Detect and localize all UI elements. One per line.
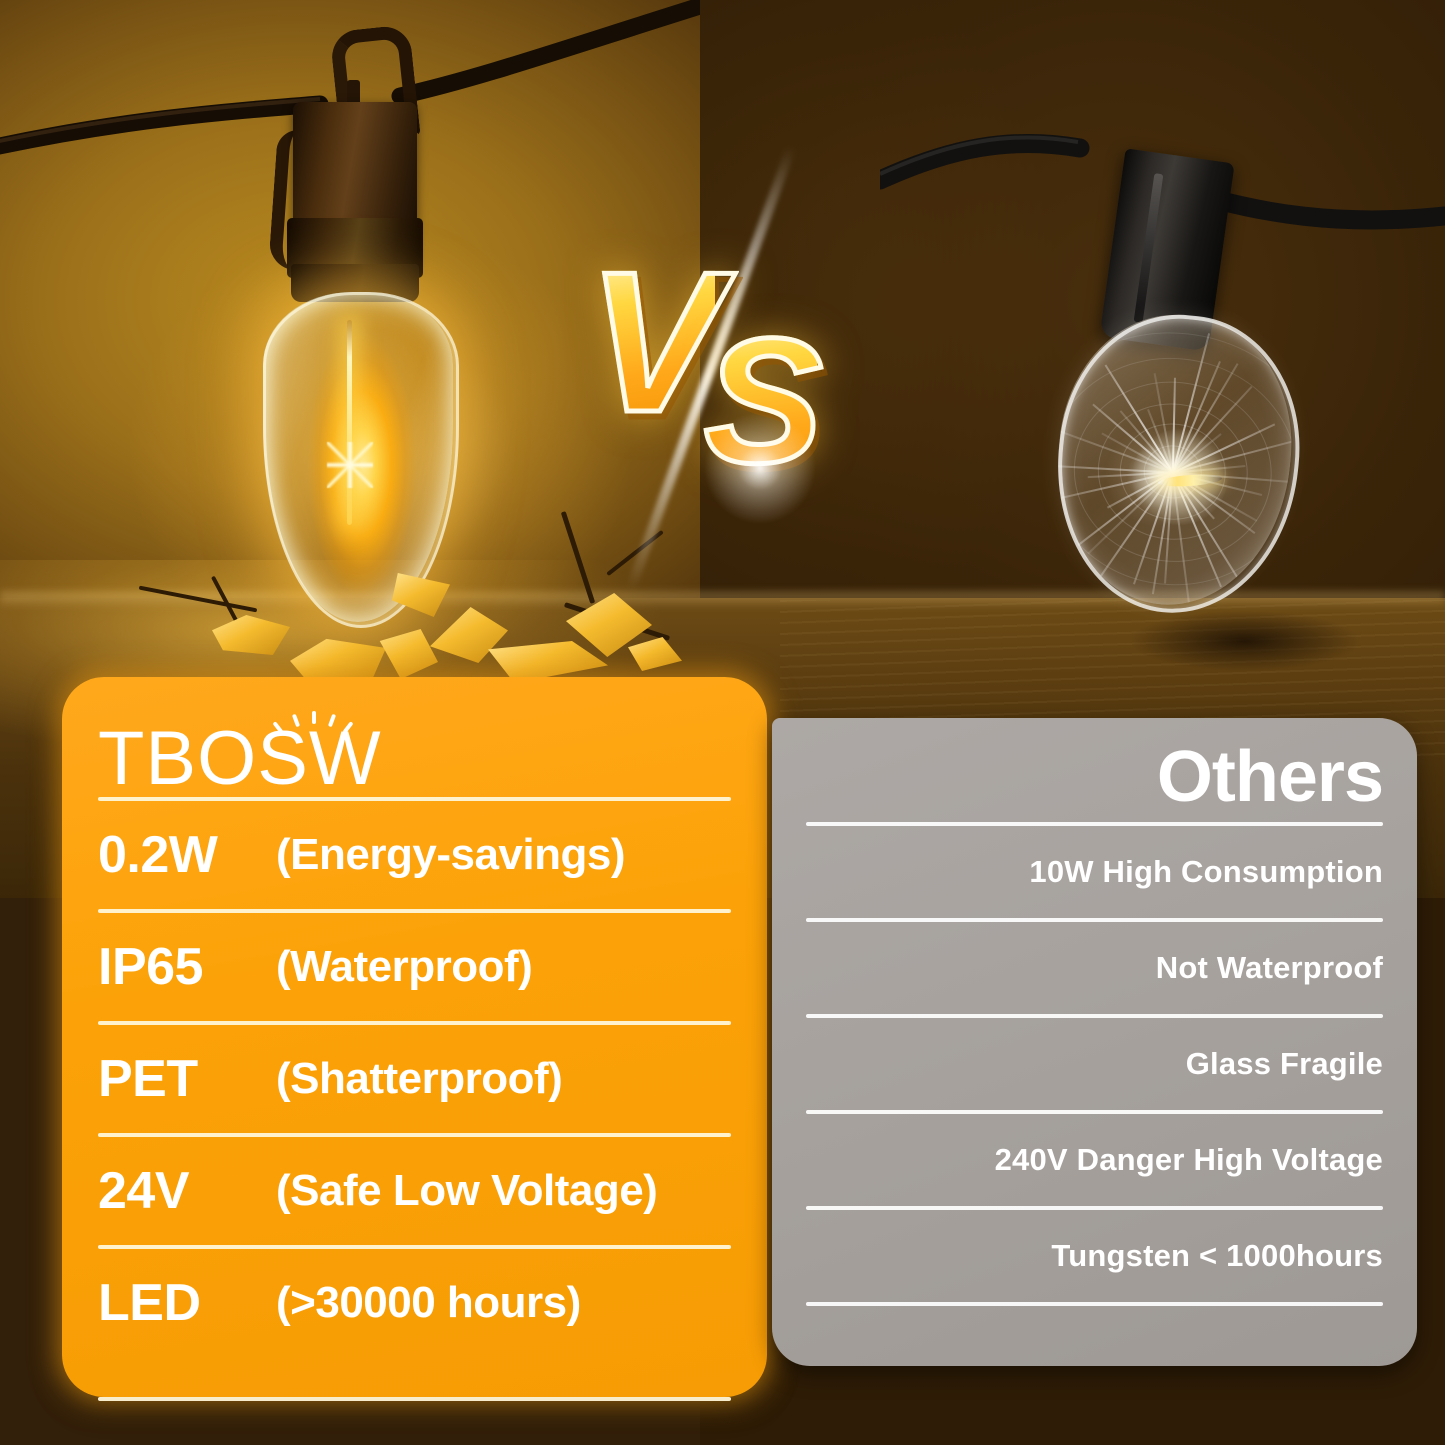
brand-divider [98, 797, 731, 801]
others-divider [806, 1302, 1383, 1306]
vs-letter-v: V [588, 243, 715, 443]
brand-row-value: (Safe Low Voltage) [276, 1166, 657, 1216]
brand-row-value: (Shatterproof) [276, 1054, 562, 1104]
others-title: Others [806, 732, 1383, 822]
others-row: Glass Fragile [806, 1018, 1383, 1110]
others-row: Not Waterproof [806, 922, 1383, 1014]
others-divider [806, 822, 1383, 826]
broken-bulb-graphic [1040, 155, 1340, 675]
brand-row: IP65 (Waterproof) [98, 913, 731, 1021]
brand-row-key: 24V [98, 1161, 276, 1221]
brand-divider [98, 1133, 731, 1137]
logo-rays-icon [274, 709, 350, 735]
brand-row: 0.2W (Energy-savings) [98, 801, 731, 909]
lens-flare [700, 408, 820, 528]
brand-row-value: (Waterproof) [276, 942, 532, 992]
brand-logo: TBOSW [98, 705, 731, 797]
brand-row: LED (>30000 hours) [98, 1249, 731, 1357]
brand-divider [98, 909, 731, 913]
brand-row-value: (>30000 hours) [276, 1278, 581, 1328]
others-comparison-panel: Others 10W High Consumption Not Waterpro… [772, 718, 1417, 1366]
infographic-canvas: V S TBOSW 0.2W (Energy-savings [0, 0, 1445, 1445]
brand-row-key: PET [98, 1049, 276, 1109]
brand-row-key: IP65 [98, 937, 276, 997]
brand-row-value: (Energy-savings) [276, 830, 625, 880]
brand-divider [98, 1397, 731, 1401]
brand-row-key: 0.2W [98, 825, 276, 885]
others-row: 240V Danger High Voltage [806, 1114, 1383, 1206]
sparkle-icon [327, 442, 373, 488]
brand-row-key: LED [98, 1273, 276, 1333]
brand-divider [98, 1245, 731, 1249]
versus-badge: V S [588, 243, 858, 523]
led-filament [347, 320, 352, 525]
brand-comparison-panel: TBOSW 0.2W (Energy-savings) IP65 (Waterp… [62, 677, 767, 1397]
others-row: Tungsten < 1000hours [806, 1210, 1383, 1302]
brand-row: 24V (Safe Low Voltage) [98, 1137, 731, 1245]
others-divider [806, 1110, 1383, 1114]
others-row: 10W High Consumption [806, 826, 1383, 918]
brand-row: PET (Shatterproof) [98, 1025, 731, 1133]
others-divider [806, 1206, 1383, 1210]
others-divider [806, 918, 1383, 922]
others-divider [806, 1014, 1383, 1018]
brand-divider [98, 1021, 731, 1025]
